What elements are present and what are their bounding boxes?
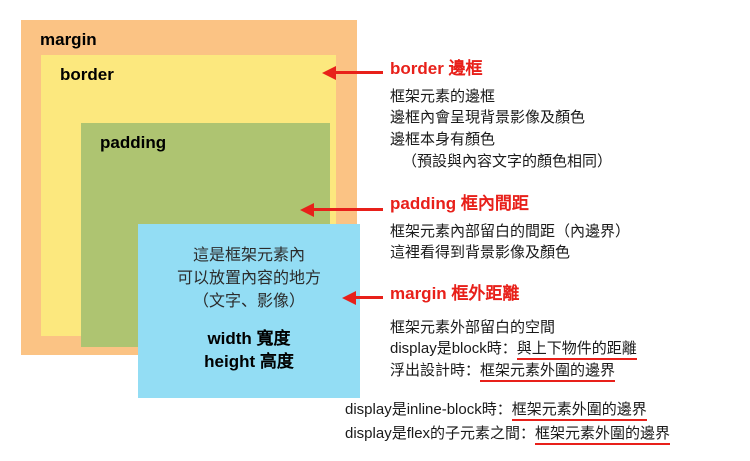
padding-pointer-arrow-icon (313, 208, 383, 211)
css-box-model-diagram: margin border padding 這是框架元素內 可以放置內容的地方 … (21, 20, 357, 355)
margin-annotation-title: margin 框外距離 (390, 285, 637, 304)
margin-annotation-line-1: 框架元素外部留白的空間 (390, 317, 637, 339)
content-text-line-1: 這是框架元素內 (193, 244, 305, 267)
content-height-label: height 高度 (204, 351, 294, 374)
padding-annotation-line-1: 框架元素內部留白的間距（內邊界） (390, 221, 630, 243)
margin-annotation-line-2: display是block時：與上下物件的距離 (390, 338, 637, 360)
extra-annotation-line-2: display是flex的子元素之間：框架元素外圍的邊界 (345, 422, 670, 446)
border-annotation: border 邊框 框架元素的邊框 邊框內會呈現背景影像及顏色 邊框本身有顏色 … (390, 60, 612, 173)
padding-box-label: padding (100, 134, 166, 151)
content-box-layer: 這是框架元素內 可以放置內容的地方 （文字、影像） width 寬度 heigh… (138, 224, 360, 398)
border-box-label: border (60, 66, 114, 83)
margin-annotation-line-3-prefix: 浮出設計時： (390, 362, 480, 379)
padding-annotation-title: padding 框內間距 (390, 195, 630, 214)
margin-annotation: margin 框外距離 框架元素外部留白的空間 display是block時：與… (390, 285, 637, 382)
margin-annotation-line-3-emphasis: 框架元素外圍的邊界 (480, 362, 615, 382)
margin-annotation-line-2-emphasis: 與上下物件的距離 (517, 340, 637, 360)
margin-box-layer: margin border padding 這是框架元素內 可以放置內容的地方 … (21, 20, 357, 355)
content-width-label: width 寬度 (207, 328, 290, 351)
border-annotation-line-1: 框架元素的邊框 (390, 86, 612, 108)
extra-annotation-line-2-emphasis: 框架元素外圍的邊界 (535, 425, 670, 445)
border-annotation-title: border 邊框 (390, 60, 612, 79)
padding-annotation-body: 框架元素內部留白的間距（內邊界） 這裡看得到背景影像及顏色 (390, 221, 630, 265)
margin-annotation-line-2-prefix: display是block時： (390, 340, 517, 357)
padding-box-layer: padding 這是框架元素內 可以放置內容的地方 （文字、影像） width … (81, 123, 330, 347)
padding-annotation: padding 框內間距 框架元素內部留白的間距（內邊界） 這裡看得到背景影像及… (390, 195, 630, 264)
margin-annotation-line-3: 浮出設計時：框架元素外圍的邊界 (390, 360, 637, 382)
margin-pointer-arrow-icon (355, 296, 383, 299)
content-text-line-2: 可以放置內容的地方 (177, 267, 321, 290)
margin-box-label: margin (40, 31, 97, 48)
border-pointer-arrow-icon (335, 71, 383, 74)
border-annotation-line-4: （預設與內容文字的顏色相同） (390, 151, 612, 173)
content-text-line-3: （文字、影像） (193, 290, 305, 313)
padding-annotation-line-2: 這裡看得到背景影像及顏色 (390, 242, 630, 264)
margin-extra-annotation: display是inline-block時：框架元素外圍的邊界 display是… (345, 398, 670, 447)
extra-annotation-line-1-prefix: display是inline-block時： (345, 401, 512, 418)
extra-annotation-line-2-prefix: display是flex的子元素之間： (345, 425, 535, 442)
border-annotation-body: 框架元素的邊框 邊框內會呈現背景影像及顏色 邊框本身有顏色 （預設與內容文字的顏… (390, 86, 612, 173)
extra-annotation-line-1: display是inline-block時：框架元素外圍的邊界 (345, 398, 670, 422)
border-annotation-line-2: 邊框內會呈現背景影像及顏色 (390, 107, 612, 129)
border-annotation-line-3: 邊框本身有顏色 (390, 129, 612, 151)
margin-annotation-body: 框架元素外部留白的空間 display是block時：與上下物件的距離 浮出設計… (390, 317, 637, 382)
border-box-layer: border padding 這是框架元素內 可以放置內容的地方 （文字、影像）… (41, 55, 336, 336)
extra-annotation-line-1-emphasis: 框架元素外圍的邊界 (512, 401, 647, 421)
